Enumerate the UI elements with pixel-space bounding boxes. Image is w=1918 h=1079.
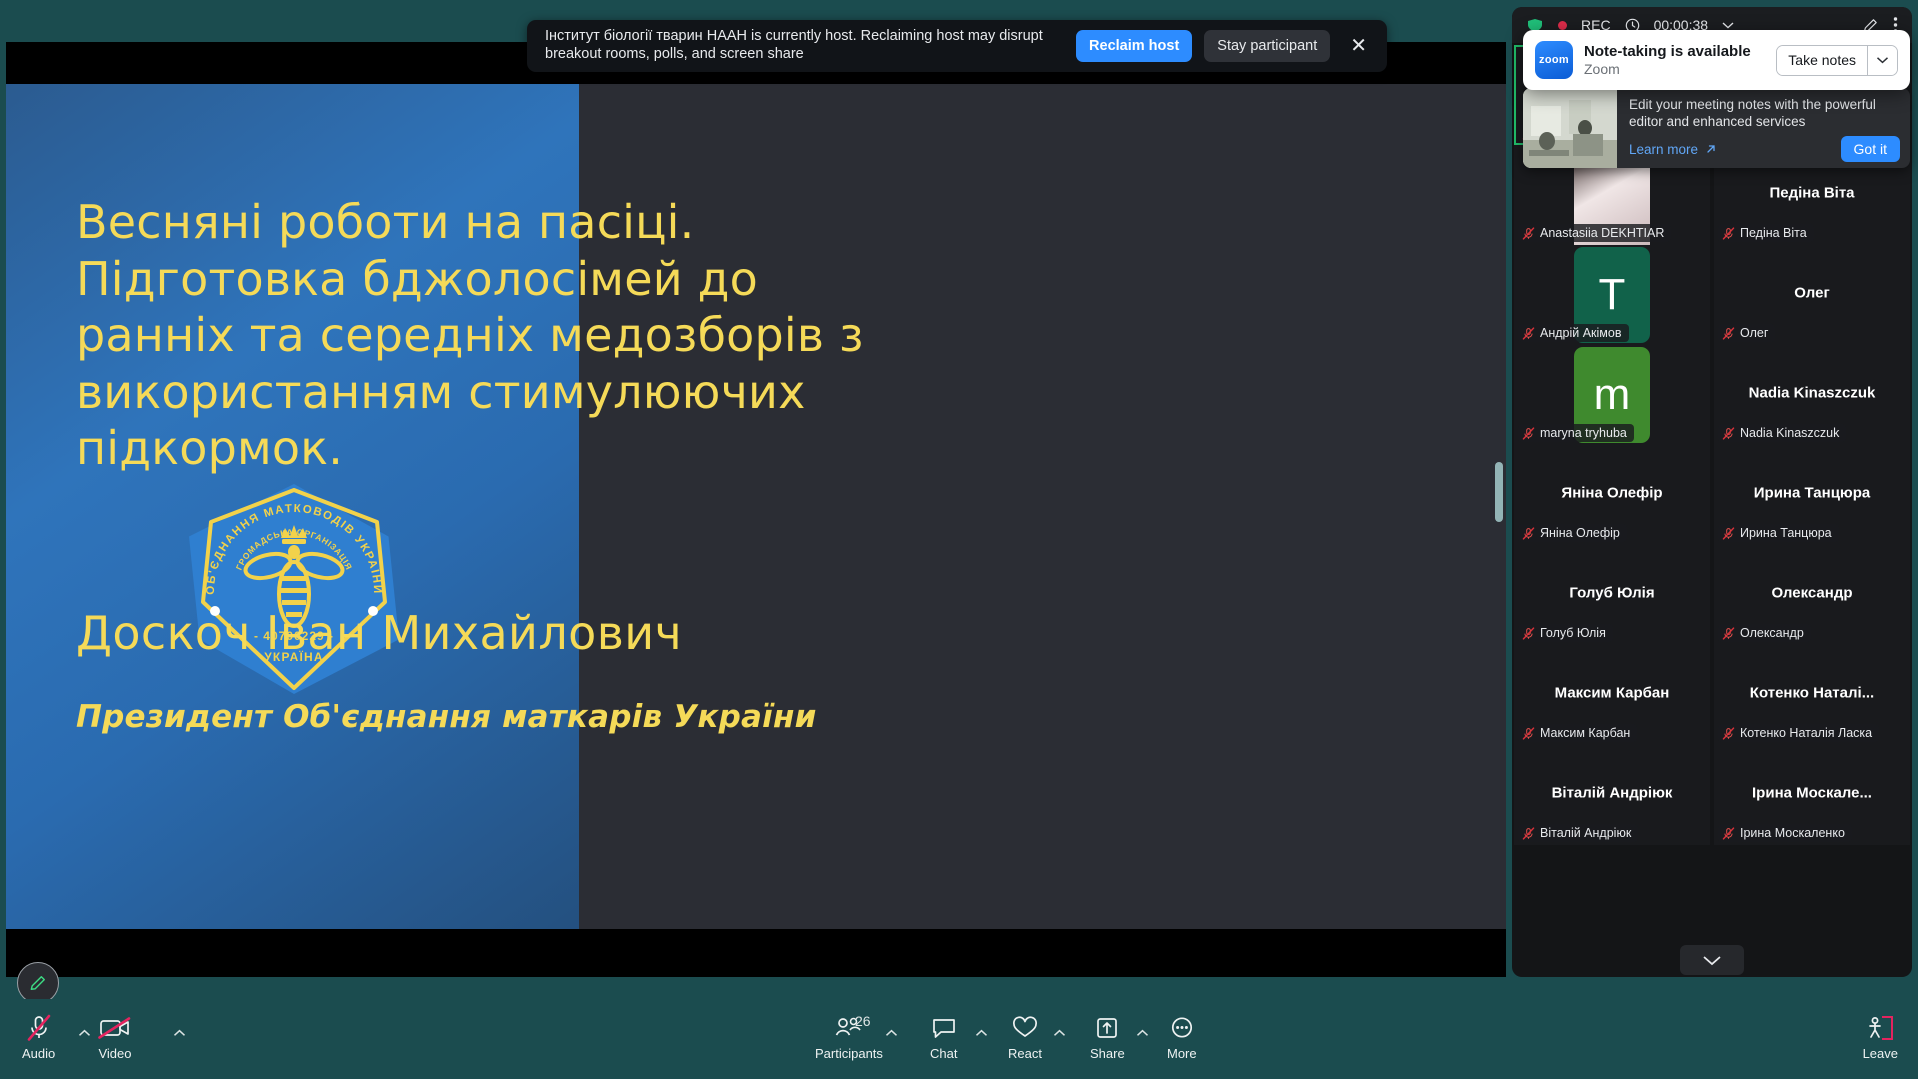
share-options-caret[interactable] bbox=[1136, 1025, 1149, 1040]
participant-name-pill: Ирина Танцюра bbox=[1718, 524, 1839, 542]
participant-name-pill: Nadia Kinaszczuk bbox=[1718, 424, 1846, 442]
participant-tile[interactable]: Ирина ТанцюраИрина Танцюра bbox=[1714, 445, 1910, 545]
participant-name-pill: Андрій Акімов bbox=[1518, 324, 1629, 342]
microphone-off-icon bbox=[1522, 727, 1535, 740]
ellipsis-icon bbox=[1169, 1011, 1195, 1045]
host-banner-message: Інститут біології тварин НААН is current… bbox=[545, 28, 1064, 63]
microphone-off-icon bbox=[1722, 827, 1735, 840]
zoom-meeting-window: ОБ'ЄДНАННЯ МАТКОВОДІВ УКРАЇНИ ГРОМАДСЬКА… bbox=[0, 0, 1918, 1079]
participant-tile[interactable]: ОлександрОлександр bbox=[1714, 545, 1910, 645]
chevron-down-icon bbox=[1876, 56, 1889, 64]
participant-name-pill: Голуб Юлія bbox=[1518, 624, 1613, 642]
leave-button[interactable]: Leave bbox=[1863, 1011, 1898, 1061]
microphone-off-icon bbox=[1722, 327, 1735, 340]
chevron-up-icon bbox=[885, 1029, 898, 1037]
participant-display-name: Максим Карбан bbox=[1514, 684, 1710, 701]
meeting-toolbar: Audio Video bbox=[0, 999, 1918, 1079]
participant-display-name: Педіна Віта bbox=[1714, 184, 1910, 201]
presentation-slide: ОБ'ЄДНАННЯ МАТКОВОДІВ УКРАЇНИ ГРОМАДСЬКА… bbox=[6, 84, 1506, 929]
microphone-off-icon bbox=[1522, 527, 1535, 540]
video-button[interactable]: Video bbox=[98, 1011, 132, 1061]
video-label: Video bbox=[98, 1046, 131, 1061]
participant-tile[interactable]: Голуб ЮліяГолуб Юлія bbox=[1514, 545, 1710, 645]
toast-subtitle: Zoom bbox=[1584, 61, 1765, 77]
chevron-down-icon[interactable] bbox=[1722, 21, 1734, 29]
leave-door-icon bbox=[1864, 1011, 1896, 1045]
microphone-off-icon bbox=[1722, 527, 1735, 540]
note-taking-toast: zoom Note-taking is available Zoom Take … bbox=[1523, 30, 1910, 90]
participant-name-pill: Anastasiia DEKHTIAR bbox=[1518, 224, 1671, 242]
participant-tile[interactable]: Ірина Москале...Ірина Москаленко bbox=[1714, 745, 1910, 845]
close-icon[interactable]: ✕ bbox=[1342, 36, 1375, 56]
participant-tile[interactable]: TАндрій Акімов bbox=[1514, 245, 1710, 345]
participant-display-name: Ірина Москале... bbox=[1714, 784, 1910, 801]
participant-name-pill: Котенко Наталія Ласка bbox=[1718, 724, 1879, 742]
microphone-off-icon bbox=[26, 1011, 52, 1045]
participant-display-name: Голуб Юлія bbox=[1514, 584, 1710, 601]
toast-title: Note-taking is available bbox=[1584, 43, 1765, 60]
microphone-off-icon bbox=[1522, 627, 1535, 640]
slide-presenter-name: Доскоч Іван Михайлович bbox=[76, 606, 682, 660]
slide-presenter-role: Президент Об'єднання маткарів України bbox=[76, 699, 817, 735]
annotate-button[interactable] bbox=[17, 962, 59, 1004]
react-options-caret[interactable] bbox=[1053, 1025, 1066, 1040]
zoom-logo-icon: zoom bbox=[1535, 41, 1573, 79]
note-taking-tip-card: Edit your meeting notes with the powerfu… bbox=[1523, 88, 1910, 168]
participant-tile[interactable]: Котенко Наталі...Котенко Наталія Ласка bbox=[1714, 645, 1910, 745]
participant-tile[interactable]: Максим КарбанМаксим Карбан bbox=[1514, 645, 1710, 745]
microphone-off-icon bbox=[1722, 427, 1735, 440]
chevron-up-icon bbox=[1053, 1029, 1066, 1037]
participant-tile[interactable]: ОлегОлег bbox=[1714, 245, 1910, 345]
microphone-off-icon bbox=[1522, 427, 1535, 440]
audio-label: Audio bbox=[22, 1046, 55, 1061]
chevron-up-icon bbox=[78, 1029, 91, 1037]
participant-name-pill: Максим Карбан bbox=[1518, 724, 1637, 742]
react-label: React bbox=[1008, 1046, 1042, 1061]
pencil-icon bbox=[28, 973, 48, 993]
participant-name-pill: Яніна Олефір bbox=[1518, 524, 1627, 542]
chevron-up-icon bbox=[1136, 1029, 1149, 1037]
camera-off-icon bbox=[98, 1011, 132, 1045]
tip-thumbnail-image bbox=[1523, 88, 1617, 168]
got-it-button[interactable]: Got it bbox=[1841, 136, 1900, 162]
share-screen-icon bbox=[1094, 1011, 1120, 1045]
microphone-off-icon bbox=[1722, 227, 1735, 240]
reclaim-host-button[interactable]: Reclaim host bbox=[1076, 30, 1192, 62]
microphone-off-icon bbox=[1722, 727, 1735, 740]
share-label: Share bbox=[1090, 1046, 1125, 1061]
recording-indicator-icon bbox=[1558, 21, 1567, 30]
more-button[interactable]: More bbox=[1167, 1011, 1197, 1061]
shared-screen-stage[interactable]: ОБ'ЄДНАННЯ МАТКОВОДІВ УКРАЇНИ ГРОМАДСЬКА… bbox=[6, 42, 1506, 977]
stay-participant-button[interactable]: Stay participant bbox=[1204, 30, 1330, 62]
slide-title: Весняні роботи на пасіці. Підготовка бдж… bbox=[76, 194, 896, 477]
participant-display-name: Яніна Олефір bbox=[1514, 484, 1710, 501]
chevron-up-icon bbox=[975, 1029, 988, 1037]
participant-display-name: Олег bbox=[1714, 284, 1910, 301]
video-options-caret[interactable] bbox=[173, 1025, 186, 1040]
participant-name-pill: Ірина Москаленко bbox=[1718, 824, 1852, 842]
participants-count: 26 bbox=[855, 1013, 871, 1029]
chevron-down-icon bbox=[1702, 955, 1722, 966]
toast-actions: Take notes bbox=[1776, 45, 1898, 76]
audio-options-caret[interactable] bbox=[78, 1025, 91, 1040]
chat-options-caret[interactable] bbox=[975, 1025, 988, 1040]
participant-display-name: Nadia Kinaszczuk bbox=[1714, 384, 1910, 401]
chevron-up-icon bbox=[173, 1029, 186, 1037]
participant-display-name: Котенко Наталі... bbox=[1714, 684, 1910, 701]
leave-label: Leave bbox=[1863, 1046, 1898, 1061]
participant-tile[interactable]: mmaryna tryhuba bbox=[1514, 345, 1710, 445]
external-link-icon bbox=[1705, 143, 1717, 155]
gallery-show-more-button[interactable] bbox=[1680, 945, 1744, 975]
take-notes-dropdown-button[interactable] bbox=[1867, 46, 1897, 75]
take-notes-button[interactable]: Take notes bbox=[1777, 46, 1867, 75]
stage-scrollbar[interactable] bbox=[1495, 462, 1503, 522]
share-screen-button[interactable]: Share bbox=[1090, 1011, 1125, 1061]
participant-display-name: Віталій Андріюк bbox=[1514, 784, 1710, 801]
participant-display-name: Олександр bbox=[1714, 584, 1910, 601]
organization-emblem: ОБ'ЄДНАННЯ МАТКОВОДІВ УКРАЇНИ ГРОМАДСЬКА… bbox=[189, 484, 399, 694]
participant-name-pill: maryna tryhuba bbox=[1518, 424, 1634, 442]
participants-button[interactable]: Participants bbox=[815, 1011, 883, 1061]
participant-tiles: Юрій МиколайовичІнститут біологіїАнна Дз… bbox=[1512, 43, 1912, 977]
participant-name-pill: Олександр bbox=[1718, 624, 1811, 642]
participants-label: Participants bbox=[815, 1046, 883, 1061]
tip-text: Edit your meeting notes with the powerfu… bbox=[1629, 96, 1900, 130]
microphone-off-icon bbox=[1522, 827, 1535, 840]
participant-tile[interactable]: Nadia KinaszczukNadia Kinaszczuk bbox=[1714, 345, 1910, 445]
participant-display-name: Ирина Танцюра bbox=[1714, 484, 1910, 501]
microphone-off-icon bbox=[1522, 327, 1535, 340]
host-reclaim-banner: Інститут біології тварин НААН is current… bbox=[527, 20, 1387, 72]
audio-button[interactable]: Audio bbox=[22, 1011, 55, 1061]
microphone-off-icon bbox=[1722, 627, 1735, 640]
learn-more-link[interactable]: Learn more bbox=[1629, 142, 1717, 157]
participant-name-pill: Олег bbox=[1718, 324, 1775, 342]
chat-button[interactable]: Chat bbox=[930, 1011, 957, 1061]
participant-name-pill: Віталій Андріюк bbox=[1518, 824, 1638, 842]
microphone-off-icon bbox=[1522, 227, 1535, 240]
chat-bubble-icon bbox=[931, 1011, 957, 1045]
participant-tile[interactable]: Віталій АндріюкВіталій Андріюк bbox=[1514, 745, 1710, 845]
chat-label: Chat bbox=[930, 1046, 957, 1061]
react-button[interactable]: React bbox=[1008, 1011, 1042, 1061]
participant-tile[interactable]: Яніна ОлефірЯніна Олефір bbox=[1514, 445, 1710, 545]
participants-options-caret[interactable] bbox=[885, 1025, 898, 1040]
more-label: More bbox=[1167, 1046, 1197, 1061]
heart-icon bbox=[1011, 1011, 1039, 1045]
participant-name-pill: Педіна Віта bbox=[1718, 224, 1814, 242]
